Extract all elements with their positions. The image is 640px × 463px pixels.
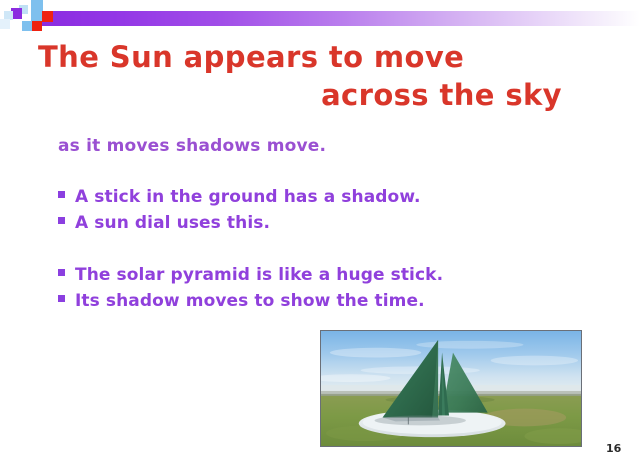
decoration-square-6 bbox=[32, 21, 42, 31]
list-item-label: Its shadow moves to show the time. bbox=[75, 288, 425, 314]
slide-canvas: The Sun appears to move across the sky a… bbox=[0, 0, 640, 463]
solar-pyramid-photo bbox=[320, 330, 582, 447]
list-item: A sun dial uses this. bbox=[58, 210, 578, 236]
list-item-label: A sun dial uses this. bbox=[75, 210, 270, 236]
slide-body: as it moves shadows move. A stick in the… bbox=[58, 134, 578, 314]
gradient-bar bbox=[42, 11, 640, 26]
square-bullet-icon bbox=[58, 295, 65, 302]
square-bullet-icon bbox=[58, 217, 65, 224]
lead-paragraph: as it moves shadows move. bbox=[58, 134, 578, 158]
decoration-square-4 bbox=[42, 11, 53, 22]
decoration-square-5 bbox=[22, 21, 32, 31]
header-decoration bbox=[0, 0, 640, 34]
square-bullet-icon bbox=[58, 191, 65, 198]
bullet-group-1: A stick in the ground has a shadow. A su… bbox=[58, 184, 578, 236]
list-item: A stick in the ground has a shadow. bbox=[58, 184, 578, 210]
list-item-label: The solar pyramid is like a huge stick. bbox=[75, 262, 443, 288]
bullet-group-2: The solar pyramid is like a huge stick. … bbox=[58, 262, 578, 314]
list-item: The solar pyramid is like a huge stick. bbox=[58, 262, 578, 288]
list-item: Its shadow moves to show the time. bbox=[58, 288, 578, 314]
title-line-2: across the sky bbox=[38, 76, 620, 114]
page-title: The Sun appears to move across the sky bbox=[0, 38, 620, 114]
square-bullet-icon bbox=[58, 269, 65, 276]
slide-number: 16 bbox=[606, 442, 621, 455]
list-item-label: A stick in the ground has a shadow. bbox=[75, 184, 421, 210]
decoration-square-8 bbox=[0, 19, 10, 29]
title-line-1: The Sun appears to move bbox=[38, 38, 620, 76]
solar-pyramid-illustration bbox=[321, 331, 581, 446]
